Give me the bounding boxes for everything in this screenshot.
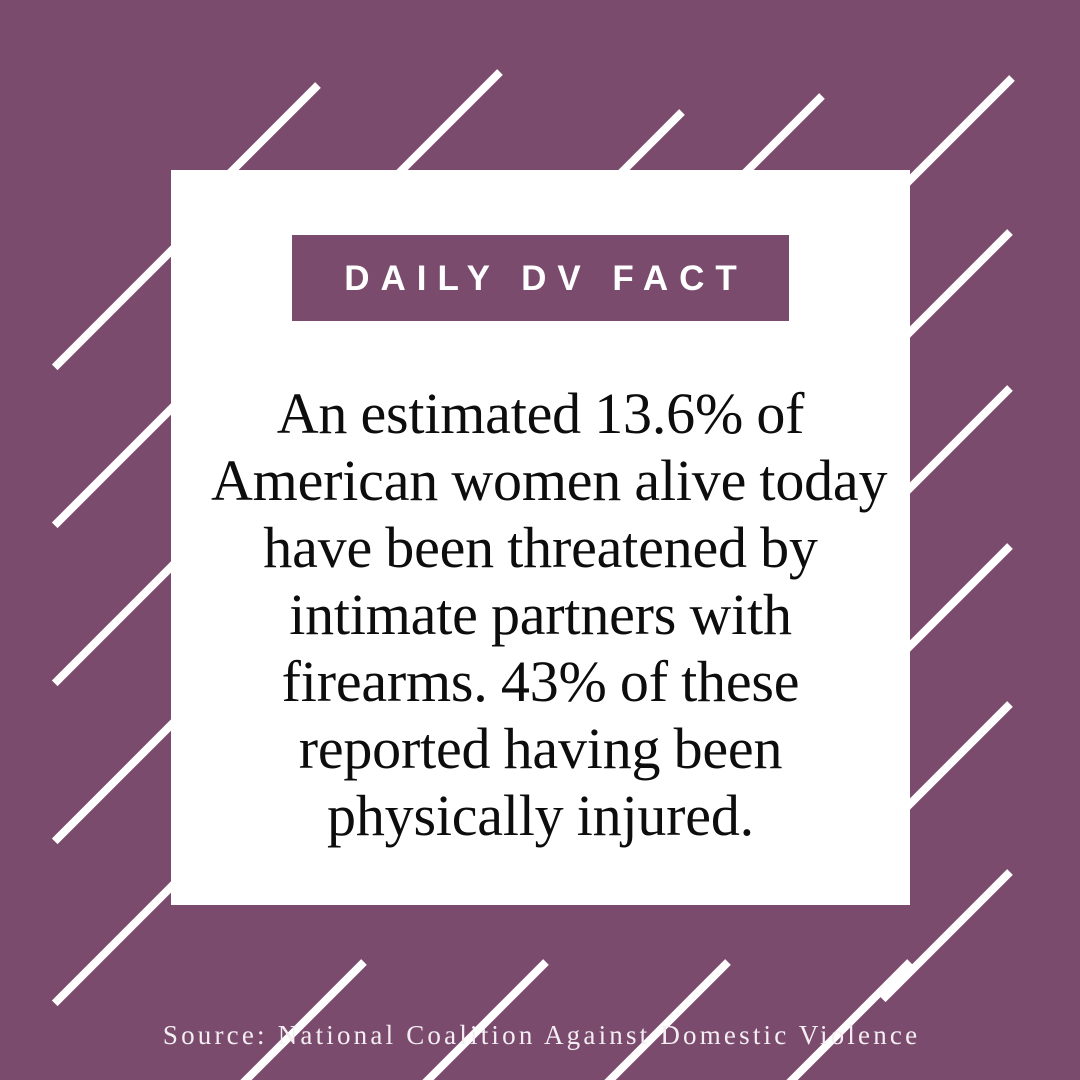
- fact-line: firearms. 43% of these: [211, 648, 870, 715]
- fact-body-text: An estimated 13.6% ofAmerican women aliv…: [211, 380, 870, 849]
- fact-line: physically injured.: [211, 782, 870, 849]
- banner-label: DAILY DV FACT: [333, 261, 748, 296]
- fact-card: DAILY DV FACT An estimated 13.6% ofAmeri…: [171, 170, 910, 905]
- diagonal-stripe: [55, 398, 182, 525]
- poster-canvas: DAILY DV FACT An estimated 13.6% ofAmeri…: [0, 0, 1080, 1080]
- fact-line: intimate partners with: [211, 581, 870, 648]
- diagonal-stripe: [55, 556, 182, 683]
- diagonal-stripe: [55, 714, 182, 841]
- diagonal-stripe: [55, 876, 182, 1003]
- daily-dv-fact-banner: DAILY DV FACT: [292, 235, 789, 321]
- fact-line: An estimated 13.6% of: [211, 380, 870, 447]
- diagonal-stripe: [55, 240, 182, 367]
- fact-line: American women alive today: [211, 447, 870, 514]
- fact-line: have been threatened by: [211, 514, 870, 581]
- source-credit: Source: National Coalition Against Domes…: [0, 1022, 1080, 1049]
- fact-line: reported having been: [211, 715, 870, 782]
